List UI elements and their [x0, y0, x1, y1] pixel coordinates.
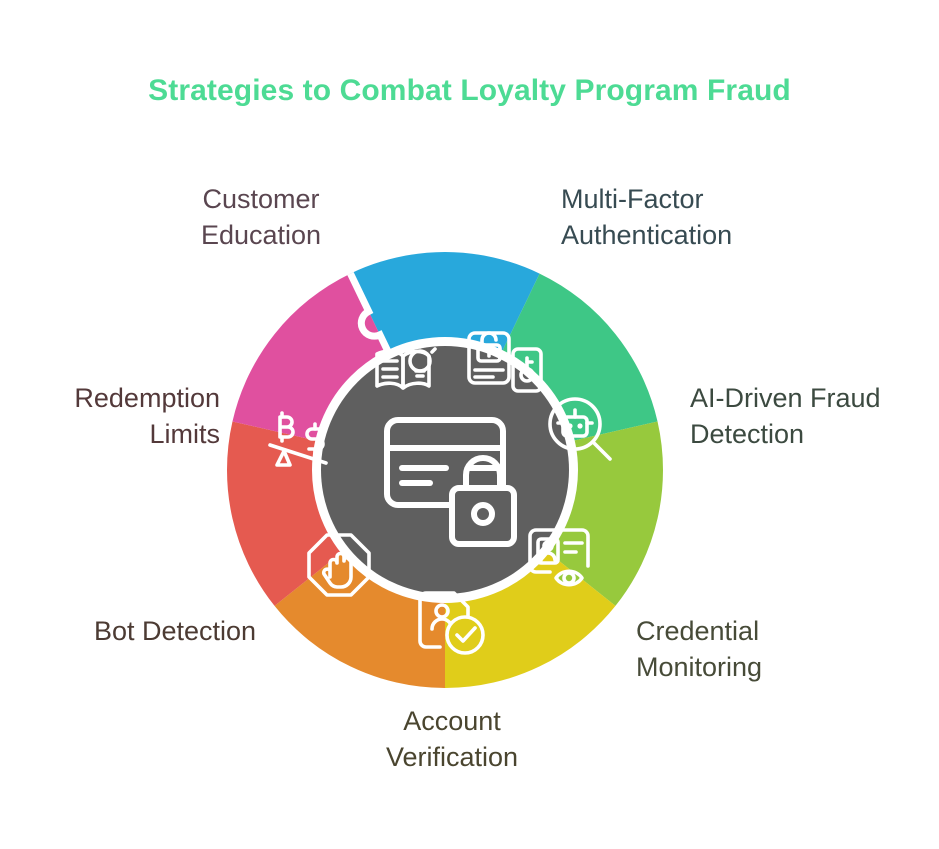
page-title: Strategies to Combat Loyalty Program Fra… [0, 74, 939, 108]
label-customer-education: Customer Education [166, 182, 356, 253]
label-credential-monitoring: Credential Monitoring [636, 614, 876, 685]
infographic-canvas: Strategies to Combat Loyalty Program Fra… [0, 0, 939, 849]
label-redemption-limits: Redemption Limits [30, 381, 220, 452]
label-account-verification: Account Verification [332, 704, 572, 775]
label-multi-factor-authentication: Multi-Factor Authentication [561, 182, 801, 253]
label-ai-driven-fraud-detection: AI-Driven Fraud Detection [690, 381, 920, 452]
label-bot-detection: Bot Detection [60, 614, 290, 650]
